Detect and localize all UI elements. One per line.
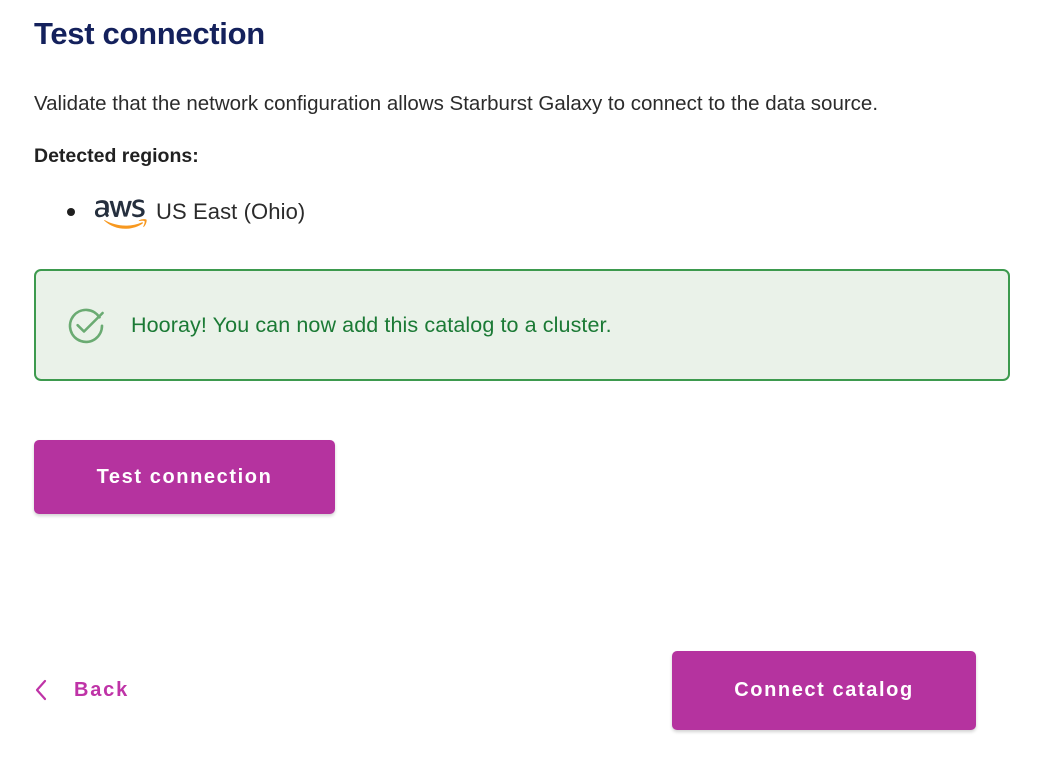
aws-logo-icon bbox=[92, 197, 148, 231]
chevron-left-icon bbox=[34, 679, 48, 701]
detected-regions-label: Detected regions: bbox=[34, 128, 1010, 169]
status-banner-message: Hooray! You can now add this catalog to … bbox=[131, 310, 612, 340]
footer-navigation: Back Connect catalog bbox=[34, 650, 1010, 730]
back-button-label: Back bbox=[74, 679, 129, 702]
test-connection-button[interactable]: Test connection bbox=[34, 440, 335, 514]
region-name: US East (Ohio) bbox=[156, 197, 305, 227]
page-title: Test connection bbox=[34, 0, 1010, 54]
connect-catalog-button[interactable]: Connect catalog bbox=[672, 651, 976, 730]
page-description: Validate that the network configuration … bbox=[34, 54, 994, 128]
status-banner: Hooray! You can now add this catalog to … bbox=[34, 269, 1010, 381]
list-item: US East (Ohio) bbox=[34, 195, 1010, 229]
test-connection-page: Test connection Validate that the networ… bbox=[0, 0, 1044, 778]
detected-regions-list: US East (Ohio) bbox=[34, 195, 1010, 229]
back-button[interactable]: Back bbox=[34, 679, 129, 702]
check-circle-icon bbox=[66, 305, 106, 345]
